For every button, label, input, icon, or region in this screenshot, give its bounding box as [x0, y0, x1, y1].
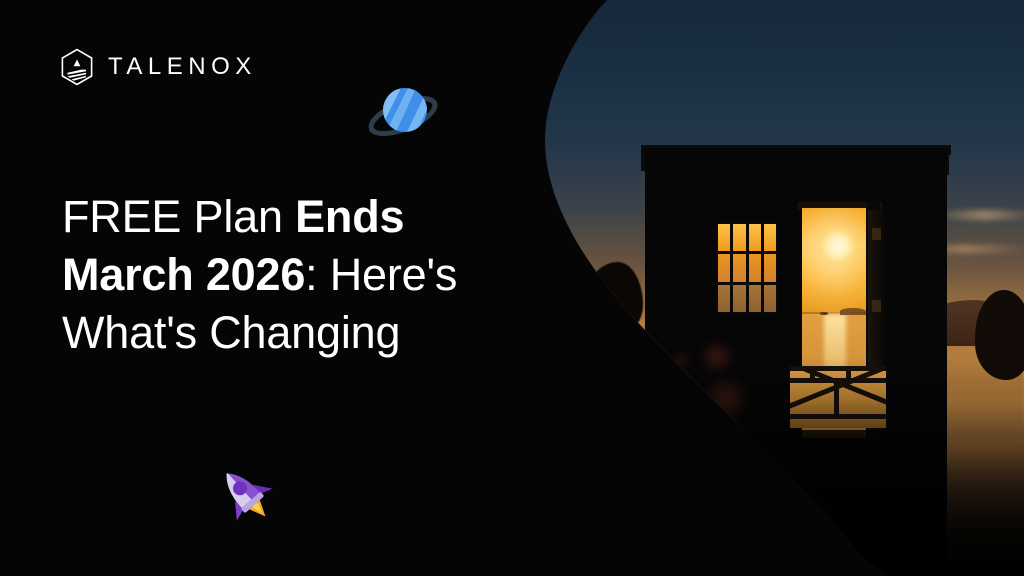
- ringed-planet-emoji: [368, 82, 438, 144]
- window-pane: [764, 285, 776, 312]
- window-grid: [716, 222, 778, 314]
- tree-silhouette-left: [583, 262, 647, 372]
- balcony-railing: [790, 366, 886, 428]
- foreground-shadow: [645, 430, 947, 576]
- tree-trunk: [607, 324, 615, 372]
- railing-bar: [790, 414, 886, 419]
- lens-flare: [672, 352, 690, 368]
- window-pane: [764, 254, 776, 281]
- window-pane: [733, 224, 745, 251]
- sun-disc: [818, 226, 858, 266]
- talenox-hexagon-logo-icon: [60, 48, 94, 86]
- lens-flare: [700, 342, 734, 372]
- headline-part-3: March 2026: [62, 249, 305, 300]
- rocket-emoji: [206, 462, 286, 528]
- island-silhouette: [840, 308, 866, 315]
- window-pane: [749, 224, 761, 251]
- headline-part-1: FREE Plan: [62, 191, 295, 242]
- lens-flare: [705, 378, 747, 420]
- window-pane: [718, 285, 730, 312]
- promo-banner: TALENOX FREE Plan Ends March 2026: Here'…: [0, 0, 1024, 576]
- page-title: FREE Plan Ends March 2026: Here's What's…: [62, 188, 532, 362]
- window-pane: [749, 254, 761, 281]
- brand-logo[interactable]: TALENOX: [60, 48, 257, 86]
- window-pane: [733, 254, 745, 281]
- window-pane: [733, 285, 745, 312]
- window-pane: [718, 224, 730, 251]
- window-pane: [749, 285, 761, 312]
- tree-silhouette-right: [975, 290, 1024, 410]
- headline-part-2: Ends: [295, 191, 404, 242]
- door-hinge: [872, 228, 881, 240]
- railing-center-post: [834, 380, 839, 414]
- window-pane: [718, 254, 730, 281]
- headline-part-5: What's Changing: [62, 307, 400, 358]
- brand-wordmark: TALENOX: [108, 55, 257, 79]
- tree-canopy: [975, 290, 1024, 380]
- railing-post: [612, 368, 615, 392]
- door-hinge: [872, 300, 881, 312]
- window-pane: [764, 224, 776, 251]
- tree-canopy: [583, 262, 643, 336]
- headline-part-4: : Here's: [305, 249, 457, 300]
- railing-post: [652, 368, 655, 392]
- boat-silhouette: [820, 312, 828, 315]
